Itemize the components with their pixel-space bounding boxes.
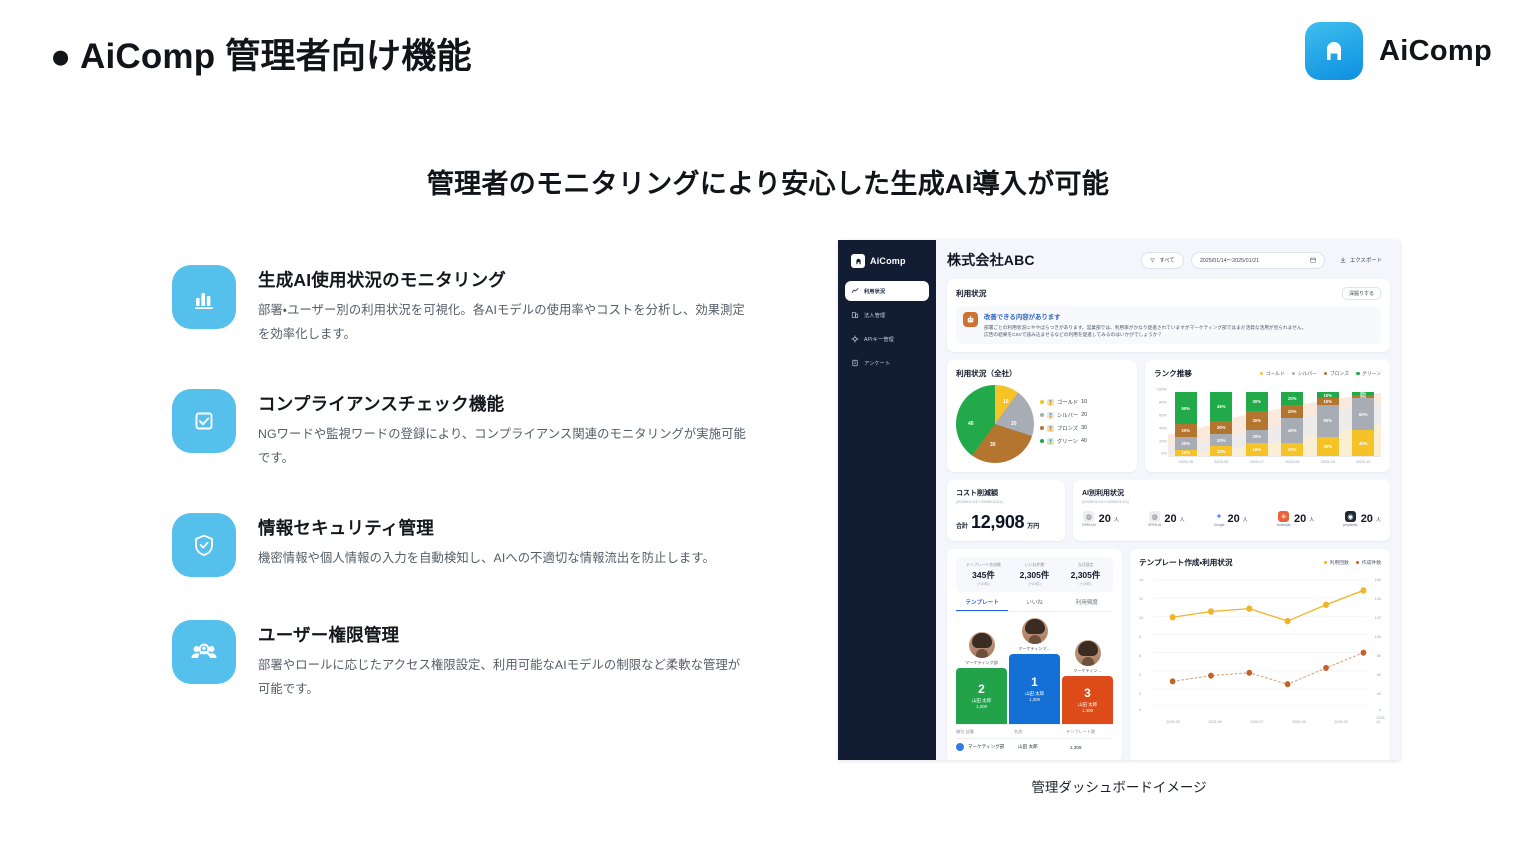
seg-silver: 50%: [1317, 405, 1339, 437]
rank-head: ランク推移 ゴールド シルバー ブロンズ グリーン: [1154, 368, 1381, 379]
seg-gold: 15%: [1246, 443, 1268, 456]
stat-label: 当月限定: [1060, 562, 1111, 568]
ai-usage-card: AI別利用状況 (2025/01/14〜2025/01/21) ◍ OPEN A…: [1073, 480, 1390, 541]
rank-trend-card: ランク推移 ゴールド シルバー ブロンズ グリーン 100% 8: [1145, 360, 1390, 472]
podium: マーケティング部 2 山田 太郎 1,309 マーケティンマ…: [956, 620, 1113, 724]
aicomp-logo-icon: [1305, 22, 1363, 80]
seg-bronze: 20%: [1175, 424, 1197, 437]
y-tick: 100%: [1157, 387, 1167, 392]
rank-bars: 50% 20% 20% 10% 45% 20% 20% 10%: [1168, 385, 1381, 457]
stat-delta: (+24件): [1060, 582, 1111, 587]
pie-label-gold: 10: [1003, 399, 1009, 405]
y-right-tick: 120: [1375, 616, 1381, 620]
ai-usage-item: ◉ perplexity 20 人: [1343, 511, 1381, 527]
legend-value-silver: 20: [1081, 412, 1087, 418]
seg-silver: 20%: [1175, 437, 1197, 450]
legend-dot-green: [1040, 439, 1044, 443]
legend-dot-gold: [1040, 400, 1044, 404]
avatar: [969, 632, 995, 658]
x-tick: 2025-09: [1334, 720, 1347, 724]
y-left-tick: 0: [1139, 708, 1141, 712]
seg-gold: 20%: [1281, 443, 1303, 456]
ai-count: 20: [1361, 513, 1373, 525]
y-left-tick: 2: [1139, 692, 1141, 696]
page-title: ● AiComp 管理者向け機能: [50, 28, 472, 79]
rank-bar: 45% 20% 20% 10%: [1210, 392, 1232, 456]
feature-item: 生成AI使用状況のモニタリング 部署・ユーザー別の利用状況を可視化。各AIモデル…: [172, 265, 748, 346]
seg-gold: 10%: [1175, 450, 1197, 456]
ai-name: OPEN AI: [1148, 523, 1162, 527]
sidebar-item-label: アンケート: [864, 360, 890, 367]
y-tick: 20%: [1159, 439, 1167, 444]
y-tick: 60%: [1159, 413, 1167, 418]
template-line-chart: 14 12 10 8 6 4 2 0 160 140 120: [1139, 574, 1381, 724]
x-tick: 2025-06: [1210, 459, 1232, 464]
ai-count: 20: [1164, 513, 1176, 525]
legend-label-silver: シルバー: [1057, 411, 1078, 419]
filter-dropdown[interactable]: すべて: [1141, 252, 1184, 269]
table-row[interactable]: マーケティング部 山田 太郎 1,309: [956, 738, 1113, 755]
podium-place-3: マーケティン… 3 山田 太郎 1,309: [1062, 640, 1113, 724]
medal-green-icon: 🏅: [1047, 438, 1054, 445]
sidebar-item-apikey[interactable]: APIキー管理: [845, 329, 929, 349]
perplexity-icon: ◉: [1345, 511, 1356, 522]
rank-trend-chart: 100% 80% 60% 40% 20% 0%: [1154, 385, 1381, 457]
y-right-tick: 0: [1379, 708, 1381, 712]
podium-rank: 1: [1031, 676, 1038, 689]
ai-usage-item: ✳ Anthropic 20 人: [1277, 511, 1315, 527]
insight-alert: 改善できる内容があります 部署ごとの利用状況にややばらつきがあります。営業部では…: [956, 306, 1381, 344]
cost-period: (2025/01/14〜2025/01/21): [956, 499, 1056, 505]
sidebar-item-corporate[interactable]: 法人管理: [845, 305, 929, 325]
stat-item: 当月限定 2,305件 (+24件): [1060, 562, 1111, 587]
stat-label: いいね件数: [1009, 562, 1060, 568]
tab-template[interactable]: テンプレート: [956, 598, 1008, 611]
x-tick: 2025-07: [1250, 720, 1263, 724]
y-tick: 80%: [1159, 400, 1167, 405]
rank-x-labels: 2025-05 2025-06 2025-07 2025-08 2025-09 …: [1168, 459, 1381, 464]
stat-value: 345件: [958, 569, 1009, 581]
slide-root: ● AiComp 管理者向け機能 AiComp 管理者のモニタリングにより安心し…: [0, 0, 1536, 864]
dashboard-topbar: 株式会社ABC すべて 2025/01/14〜2025/01/21: [947, 250, 1390, 270]
usage-pie-card: 利用状況（全社） 10 20 30 40: [947, 360, 1137, 472]
dashboard-sidebar: AiComp 利用状況 法人管理: [838, 240, 936, 760]
podium-score: 1,309: [1029, 697, 1040, 702]
charts-row-2: コスト削減額 (2025/01/14〜2025/01/21) 合計 12,908…: [947, 480, 1390, 541]
podium-dept: マーケティンマ…: [1018, 646, 1050, 652]
seg-bronze: 20%: [1281, 405, 1303, 418]
table-header-cell: 順位 部署: [956, 729, 1014, 735]
feature-title: 情報セキュリティ管理: [258, 515, 748, 540]
filter-icon: [1150, 258, 1155, 263]
x-tick: 2025-06: [1208, 720, 1221, 724]
line-chart-plot-area: [1153, 578, 1367, 712]
stat-value: 2,305件: [1009, 569, 1060, 581]
ai-badge: ◍ OPEN AI: [1082, 511, 1096, 527]
seg-bronze: 20%: [1210, 421, 1232, 434]
x-tick: 2025-05: [1175, 459, 1197, 464]
usage-panel: 利用状況 深掘りする: [947, 279, 1390, 352]
ai-count: 20: [1294, 513, 1306, 525]
dashboard-preview: AiComp 利用状況 法人管理: [838, 240, 1400, 796]
x-tick: 2025-07: [1246, 459, 1268, 464]
ai-unit: 人: [1243, 516, 1248, 523]
podium-place-1: マーケティンマ… 1 山田 太郎 1,309: [1009, 618, 1060, 724]
legend-item: ゴールド: [1260, 370, 1285, 377]
dashboard-frame: AiComp 利用状況 法人管理: [838, 240, 1400, 760]
legend-value-bronze: 30: [1081, 425, 1087, 431]
ai-usage-list: ◍ OPEN AI 20 人 ◍ OPEN AI: [1082, 511, 1381, 527]
export-label: エクスポート: [1350, 256, 1382, 264]
stat-item: テンプレート作成数 345件 (+24件): [958, 562, 1009, 587]
legend-value-green: 40: [1081, 438, 1087, 444]
ai-unit: 人: [1376, 516, 1381, 523]
rank-bar: 5% 5% 50% 40%: [1352, 392, 1374, 456]
tab-frequency[interactable]: 利用頻度: [1061, 598, 1113, 611]
ai-usage-item: ◍ OPEN AI 20 人: [1082, 511, 1119, 527]
table-header-cell: 名前: [1014, 729, 1066, 735]
seg-bronze: 30%: [1246, 411, 1268, 430]
pie-head: 利用状況（全社）: [956, 368, 1128, 379]
pie-label-silver: 20: [1011, 421, 1017, 427]
ai-usage-title: AI別利用状況: [1082, 488, 1381, 498]
feature-item: コンプライアンスチェック機能 NGワードや監視ワードの登録により、コンプライアン…: [172, 389, 748, 470]
legend-label: ブロンズ: [1330, 370, 1349, 377]
cost-value-group: 合計 12,908 万円: [956, 512, 1056, 533]
cost-title: コスト削減額: [956, 488, 1056, 498]
template-tabs: テンプレート いいね 利用頻度: [956, 598, 1113, 612]
aicomp-mini-logo-icon: [851, 254, 865, 268]
user-permission-icon: [172, 620, 236, 684]
ai-unit: 人: [1180, 516, 1185, 523]
pie-label-bronze: 30: [990, 442, 996, 448]
charts-row-1: 利用状況（全社） 10 20 30 40: [947, 360, 1390, 472]
ai-badge: ◉ perplexity: [1343, 511, 1358, 527]
shield-check-icon: [172, 513, 236, 577]
legend-label-bronze: ブロンズ: [1057, 424, 1078, 432]
avatar: [1022, 618, 1048, 644]
podium-block: 2 山田 太郎 1,309: [956, 668, 1007, 724]
rank-bar: 20% 20% 40% 20%: [1281, 392, 1303, 456]
y-left-tick: 10: [1139, 616, 1143, 620]
template-usage-chart-card: テンプレート作成・利用状況 利用回数 作成件数 14 12 10 8: [1130, 549, 1390, 760]
feature-body: 生成AI使用状況のモニタリング 部署・ユーザー別の利用状況を可視化。各AIモデル…: [258, 265, 748, 346]
y-left-tick: 8: [1139, 635, 1141, 639]
seg-gold: 30%: [1317, 437, 1339, 456]
cost-amount: 12,908: [971, 512, 1024, 533]
filter-label: すべて: [1159, 256, 1175, 264]
insight-alert-line2: 広告の結果をCSVで読み込ませるなどの利用を促進してみるのはいかがでしょうか？: [984, 331, 1306, 338]
y-right-tick: 40: [1377, 692, 1381, 696]
y-right-tick: 100: [1375, 635, 1381, 639]
seg-green: 30%: [1246, 392, 1268, 411]
checkbox-icon: [172, 389, 236, 453]
seg-silver: 50%: [1352, 398, 1374, 430]
seg-silver: 20%: [1246, 430, 1268, 443]
legend-dot-green: [1356, 372, 1360, 376]
ai-usage-period: (2025/01/14〜2025/01/21): [1082, 499, 1381, 505]
seg-gold: 40%: [1352, 430, 1374, 456]
podium-score: 1,309: [976, 704, 987, 709]
legend-item: 🏅 グリーン 40: [1040, 437, 1087, 445]
seg-green: 20%: [1281, 392, 1303, 405]
y-right-tick: 80: [1377, 654, 1381, 658]
ai-name: Google: [1214, 523, 1225, 527]
pie-chart-title: 利用状況（全社）: [956, 368, 1017, 379]
robot-icon: [963, 312, 978, 327]
usage-panel-title: 利用状況: [956, 288, 986, 299]
avatar: [1075, 640, 1101, 666]
y-left-tick: 4: [1139, 673, 1141, 677]
legend-dot-gold: [1260, 372, 1264, 376]
medal-gold-icon: 🏅: [1047, 399, 1054, 406]
ai-name: Anthropic: [1277, 523, 1291, 527]
legend-label: シルバー: [1298, 370, 1317, 377]
drilldown-button[interactable]: 深掘りする: [1342, 287, 1381, 300]
x-tick: 2025-10: [1352, 459, 1374, 464]
row-dept: マーケティング部: [968, 744, 1018, 750]
y-left-tick: 14: [1139, 578, 1143, 582]
date-range-picker[interactable]: 2025/01/14〜2025/01/21: [1191, 252, 1325, 269]
key-icon: [851, 335, 859, 343]
legend-item: 利用回数: [1324, 559, 1349, 566]
legend-label: 利用回数: [1330, 559, 1349, 566]
sidebar-item-label: 法人管理: [864, 312, 885, 319]
y-left-tick: 6: [1139, 654, 1141, 658]
x-tick: 2025-08: [1292, 720, 1305, 724]
openai-icon: ◍: [1083, 511, 1094, 522]
rank-bar: 30% 30% 20% 15%: [1246, 392, 1268, 456]
legend-label: グリーン: [1362, 370, 1381, 377]
stat-value: 2,305件: [1060, 569, 1111, 581]
legend-item: グリーン: [1356, 370, 1381, 377]
row-count: 1,309: [1070, 745, 1082, 750]
sidebar-item-label: APIキー管理: [864, 336, 894, 343]
legend-item: ブロンズ: [1324, 370, 1349, 377]
template-ranking-card: テンプレート作成数 345件 (+24件) いいね件数 2,305件 (+24件…: [947, 549, 1122, 760]
legend-dot-silver: [1292, 372, 1296, 376]
ai-badge: ✦ Google: [1214, 511, 1225, 527]
seg-green: 45%: [1210, 392, 1232, 421]
stat-delta: (+24件): [958, 582, 1009, 587]
cost-unit: 万円: [1027, 521, 1039, 530]
feature-desc: 機密情報や個人情報の入力を自動検知し、AIへの不適切な情報流出を防止します。: [258, 547, 748, 571]
topbar-controls: すべて 2025/01/14〜2025/01/21: [1141, 252, 1390, 269]
ranking-table-header: 順位 部署 名前 テンプレート数: [956, 724, 1113, 738]
feature-list: 生成AI使用状況のモニタリング 部署・ユーザー別の利用状況を可視化。各AIモデル…: [172, 265, 748, 702]
anthropic-icon: ✳: [1278, 511, 1289, 522]
podium-dept: マーケティング部: [965, 660, 997, 666]
legend-item: 🏅 シルバー 20: [1040, 411, 1087, 419]
export-button[interactable]: エクスポート: [1332, 252, 1390, 269]
page-header: ● AiComp 管理者向け機能 AiComp: [0, 0, 1536, 108]
podium-score: 1,309: [1082, 708, 1093, 713]
ai-name: perplexity: [1343, 523, 1358, 527]
feature-title: 生成AI使用状況のモニタリング: [258, 267, 748, 292]
line-chart-title: テンプレート作成・利用状況: [1139, 557, 1232, 568]
date-range-value: 2025/01/14〜2025/01/21: [1200, 256, 1259, 264]
legend-label-gold: ゴールド: [1057, 398, 1078, 406]
sidebar-logo-label: AiComp: [870, 256, 906, 266]
x-tick: 2025-08: [1281, 459, 1303, 464]
sidebar-item-usage[interactable]: 利用状況: [845, 281, 929, 301]
tab-likes[interactable]: いいね: [1008, 598, 1060, 611]
insight-alert-title: 改善できる内容があります: [984, 312, 1306, 321]
y-right-tick: 60: [1377, 673, 1381, 677]
cost-prefix: 合計: [956, 521, 968, 530]
line-chart-head: テンプレート作成・利用状況 利用回数 作成件数: [1139, 557, 1381, 568]
feature-body: コンプライアンスチェック機能 NGワードや監視ワードの登録により、コンプライアン…: [258, 389, 748, 470]
ai-count: 20: [1228, 513, 1240, 525]
y-tick: 0%: [1161, 451, 1167, 456]
download-icon: [1340, 257, 1346, 263]
y-right-tick: 140: [1375, 597, 1381, 601]
ai-badge: ✳ Anthropic: [1277, 511, 1291, 527]
podium-block: 1 山田 太郎 1,309: [1009, 654, 1060, 724]
x-tick: 2025-10: [1376, 716, 1385, 724]
feature-desc: 部署・ユーザー別の利用状況を可視化。各AIモデルの使用率やコストを分析し、効果測…: [258, 299, 748, 346]
legend-label-green: グリーン: [1057, 437, 1078, 445]
feature-title: ユーザー権限管理: [258, 622, 748, 647]
table-header-cell: テンプレート数: [1066, 729, 1095, 735]
y-left-tick: 12: [1139, 597, 1143, 601]
legend-dot-created: [1356, 561, 1360, 565]
stat-delta: (+24件): [1009, 582, 1060, 587]
calendar-icon: [1310, 257, 1316, 263]
template-stat-strip: テンプレート作成数 345件 (+24件) いいね件数 2,305件 (+24件…: [956, 557, 1113, 592]
pie-legend: 🏅 ゴールド 10 🏅 シルバー 20: [1040, 398, 1087, 450]
slide-subtitle: 管理者のモニタリングにより安心した生成AI導入が可能: [0, 162, 1536, 201]
bar-chart-icon: [172, 265, 236, 329]
stat-item: いいね件数 2,305件 (+24件): [1009, 562, 1060, 587]
feature-body: 情報セキュリティ管理 機密情報や個人情報の入力を自動検知し、AIへの不適切な情報…: [258, 513, 748, 577]
sidebar-logo: AiComp: [845, 251, 929, 281]
rank-trend-legend: ゴールド シルバー ブロンズ グリーン: [1260, 370, 1381, 377]
legend-item: 🏅 ブロンズ 30: [1040, 424, 1087, 432]
podium-block: 3 山田 太郎 1,309: [1062, 676, 1113, 724]
podium-dept: マーケティン…: [1073, 668, 1101, 674]
feature-body: ユーザー権限管理 部署やロールに応じたアクセス権限設定、利用可能なAIモデルの制…: [258, 620, 748, 701]
podium-rank: 3: [1084, 687, 1091, 700]
ai-unit: 人: [1114, 516, 1119, 523]
rank-bar: 10% 10% 50% 30%: [1317, 392, 1339, 456]
legend-label: ゴールド: [1266, 370, 1285, 377]
feature-desc: NGワードや監視ワードの登録により、コンプライアンス関連のモニタリングが実施可能…: [258, 423, 748, 470]
line-chart-legend: 利用回数 作成件数: [1324, 559, 1381, 566]
medal-silver-icon: 🏅: [1047, 412, 1054, 419]
ai-usage-item: ✦ Google 20 人: [1214, 511, 1248, 527]
y-right-tick: 160: [1375, 578, 1381, 582]
ai-count: 20: [1099, 513, 1111, 525]
insight-alert-line1: 部署ごとの利用状況にややばらつきがあります。営業部では、利用率がかなり促進されて…: [984, 324, 1306, 331]
legend-dot-bronze: [1040, 426, 1044, 430]
usage-pie-chart: 10 20 30 40: [956, 385, 1034, 463]
rank-bar: 50% 20% 20% 10%: [1175, 392, 1197, 456]
rank-y-axis: 100% 80% 60% 40% 20% 0%: [1154, 385, 1168, 457]
legend-dot-bronze: [1324, 372, 1328, 376]
legend-item: 作成件数: [1356, 559, 1381, 566]
x-tick: 2025-09: [1317, 459, 1339, 464]
sidebar-item-survey[interactable]: アンケート: [845, 353, 929, 373]
brand-lockup: AiComp: [1305, 22, 1492, 80]
feature-desc: 部署やロールに応じたアクセス権限設定、利用可能なAIモデルの制限など柔軟な管理が…: [258, 654, 748, 701]
sidebar-item-label: 利用状況: [864, 288, 885, 295]
building-icon: [851, 311, 859, 319]
dashboard-main: 株式会社ABC すべて 2025/01/14〜2025/01/21: [936, 240, 1400, 760]
podium-place-2: マーケティング部 2 山田 太郎 1,309: [956, 632, 1007, 724]
openai-icon: ◍: [1149, 511, 1160, 522]
feature-title: コンプライアンスチェック機能: [258, 391, 748, 416]
x-tick: 2025-05: [1166, 720, 1179, 724]
ai-name: OPEN AI: [1082, 523, 1096, 527]
row-name: 山田 太郎: [1018, 744, 1070, 750]
seg-silver: 40%: [1281, 418, 1303, 444]
feature-item: 情報セキュリティ管理 機密情報や個人情報の入力を自動検知し、AIへの不適切な情報…: [172, 513, 748, 577]
stat-label: テンプレート作成数: [958, 562, 1009, 568]
legend-item: シルバー: [1292, 370, 1317, 377]
legend-dot-silver: [1040, 413, 1044, 417]
usage-panel-head: 利用状況 深掘りする: [956, 287, 1381, 300]
medal-bronze-icon: 🏅: [1047, 425, 1054, 432]
legend-dot-usage: [1324, 561, 1328, 565]
clipboard-icon: [851, 359, 859, 367]
ai-badge: ◍ OPEN AI: [1148, 511, 1162, 527]
legend-value-gold: 10: [1081, 399, 1087, 405]
podium-rank: 2: [978, 683, 985, 696]
ai-usage-item: ◍ OPEN AI 20 人: [1148, 511, 1185, 527]
chart-icon: [851, 287, 859, 295]
cost-reduction-card: コスト削減額 (2025/01/14〜2025/01/21) 合計 12,908…: [947, 480, 1065, 541]
y-tick: 40%: [1159, 426, 1167, 431]
seg-gold: 10%: [1210, 446, 1232, 456]
company-name: 株式会社ABC: [947, 250, 1035, 270]
feature-item: ユーザー権限管理 部署やロールに応じたアクセス権限設定、利用可能なAIモデルの制…: [172, 620, 748, 701]
pie-label-green: 40: [968, 421, 974, 427]
legend-item: 🏅 ゴールド 10: [1040, 398, 1087, 406]
brand-name: AiComp: [1379, 35, 1492, 68]
rank-trend-area-overlay: [1168, 385, 1381, 456]
dashboard-caption: 管理ダッシュボードイメージ: [838, 776, 1400, 796]
pie-body: 10 20 30 40 🏅 ゴールド 10: [956, 385, 1128, 463]
row-avatar: [956, 743, 964, 751]
legend-label: 作成件数: [1362, 559, 1381, 566]
insight-alert-body: 改善できる内容があります 部署ごとの利用状況にややばらつきがあります。営業部では…: [984, 312, 1306, 338]
ai-unit: 人: [1309, 516, 1314, 523]
charts-row-3: テンプレート作成数 345件 (+24件) いいね件数 2,305件 (+24件…: [947, 549, 1390, 760]
seg-silver: 20%: [1210, 434, 1232, 447]
rank-trend-title: ランク推移: [1154, 368, 1192, 379]
google-icon: ✦: [1214, 511, 1225, 522]
seg-green: 50%: [1175, 392, 1197, 424]
